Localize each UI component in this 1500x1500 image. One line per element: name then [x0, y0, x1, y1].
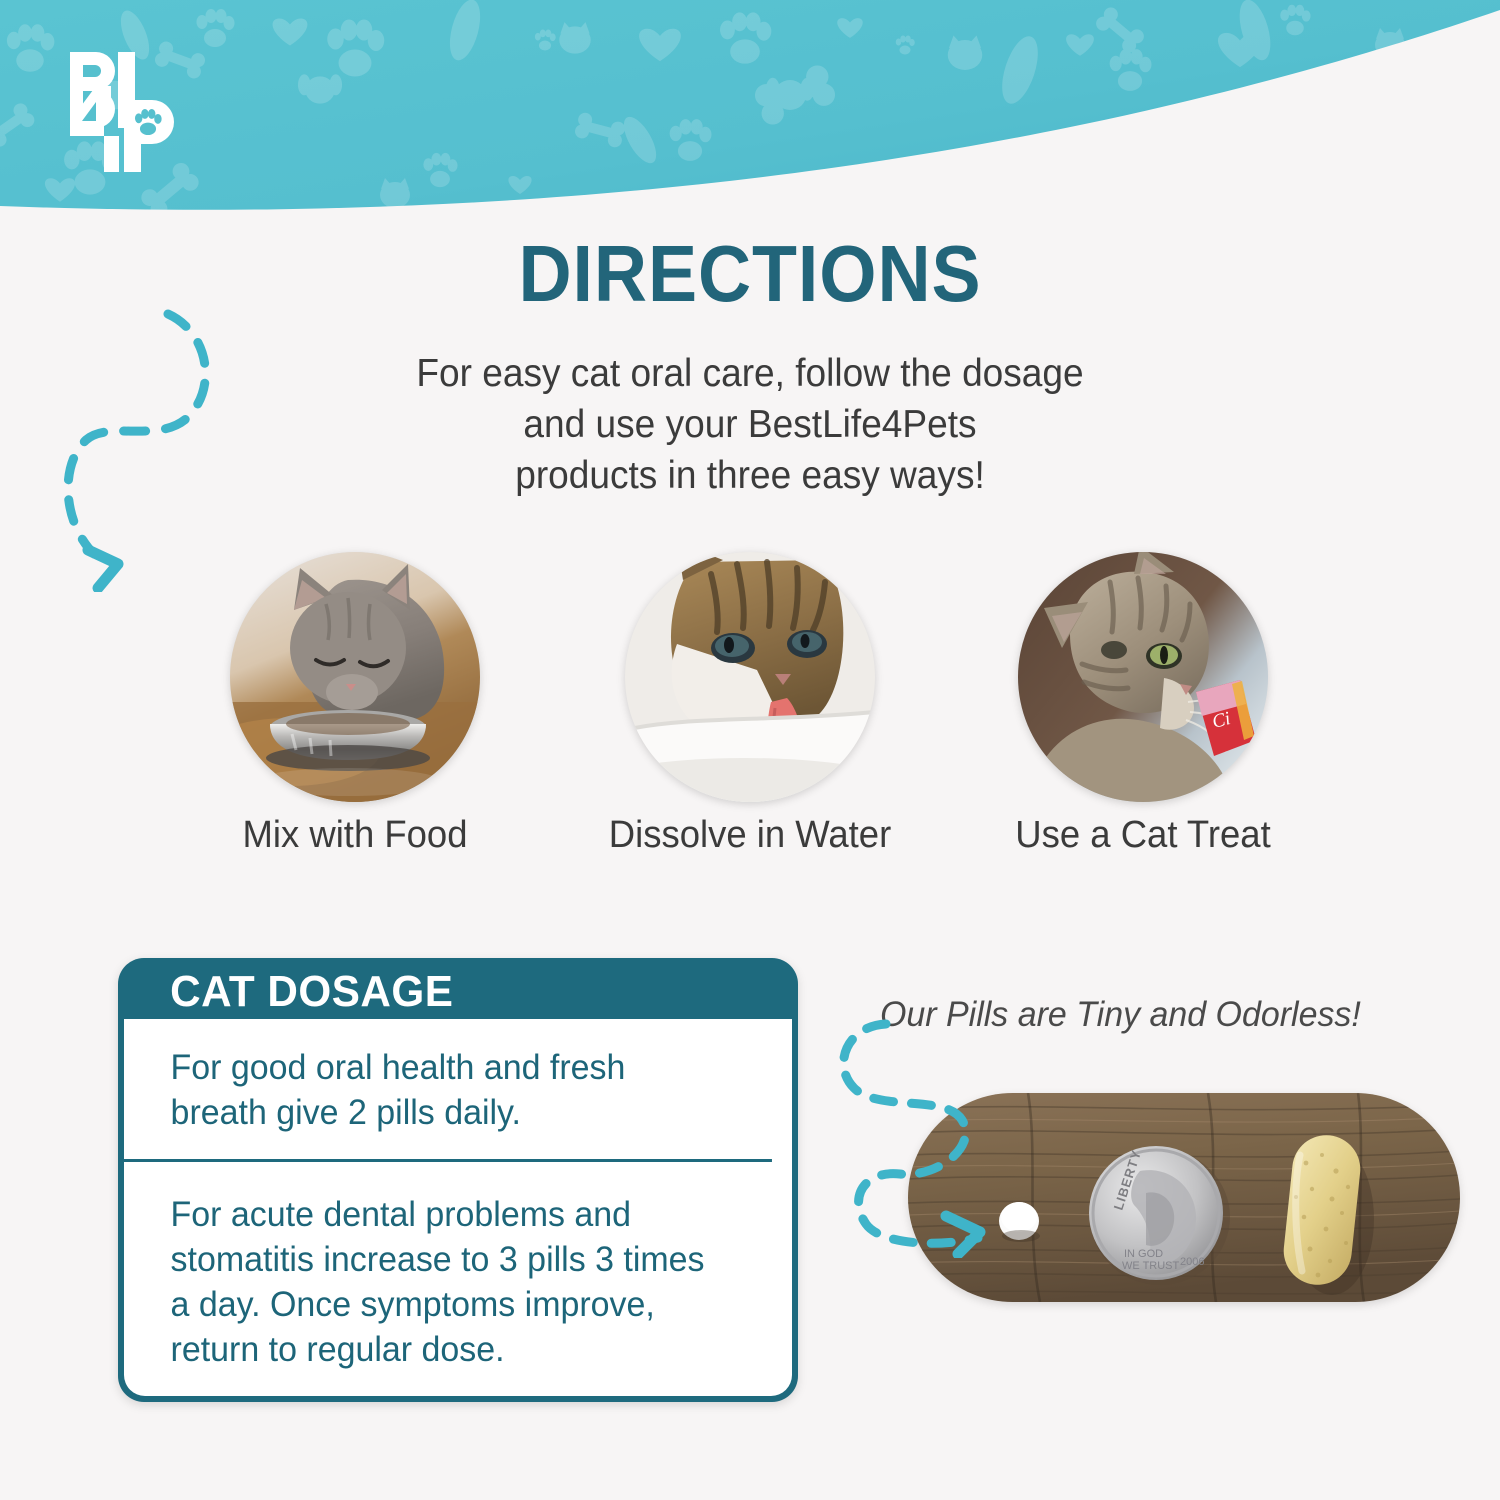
page-subtitle: For easy cat oral care, follow the dosag… — [275, 348, 1225, 501]
header-background — [0, 0, 1500, 230]
page-title: DIRECTIONS — [60, 228, 1440, 320]
header-banner — [0, 0, 1500, 230]
cat-dosage-body: For good oral health and fresh breath gi… — [124, 1019, 792, 1396]
svg-text:2006: 2006 — [1180, 1256, 1204, 1268]
subtitle-line-1: For easy cat oral care, follow the dosag… — [275, 348, 1225, 399]
method-label: Mix with Food — [177, 814, 532, 857]
dashed-curved-arrow-icon — [828, 1008, 1018, 1263]
method-dissolve-in-water: Dissolve in Water — [625, 552, 875, 802]
subtitle-line-2: and use your BestLife4Pets — [275, 399, 1225, 450]
infographic-page: DIRECTIONS For easy cat oral care, follo… — [0, 0, 1500, 1500]
method-use-a-cat-treat: Ci Use a Cat Treat — [1018, 552, 1268, 802]
subtitle-line-3: products in three easy ways! — [275, 450, 1225, 501]
svg-text:IN GOD: IN GOD — [1124, 1248, 1163, 1260]
svg-text:WE TRUST: WE TRUST — [1122, 1260, 1180, 1272]
cat-dosage-title: CAT DOSAGE — [124, 964, 765, 1019]
dashed-curved-arrow-icon — [48, 292, 218, 597]
method-label: Use a Cat Treat — [965, 814, 1320, 857]
cat-eating-from-bowl-photo — [230, 552, 480, 802]
dosage-row: For acute dental problems and stomatitis… — [124, 1162, 772, 1396]
method-mix-with-food: Mix with Food — [230, 552, 480, 802]
brand-logo — [62, 48, 182, 173]
administration-methods: Mix with Food — [0, 552, 1500, 872]
dosage-row: For good oral health and fresh breath gi… — [124, 1019, 772, 1162]
cat-with-treat-photo: Ci — [1018, 552, 1268, 802]
cat-drinking-water-photo — [625, 552, 875, 802]
cat-dosage-card: CAT DOSAGE For good oral health and fres… — [118, 958, 798, 1402]
method-label: Dissolve in Water — [572, 814, 927, 857]
